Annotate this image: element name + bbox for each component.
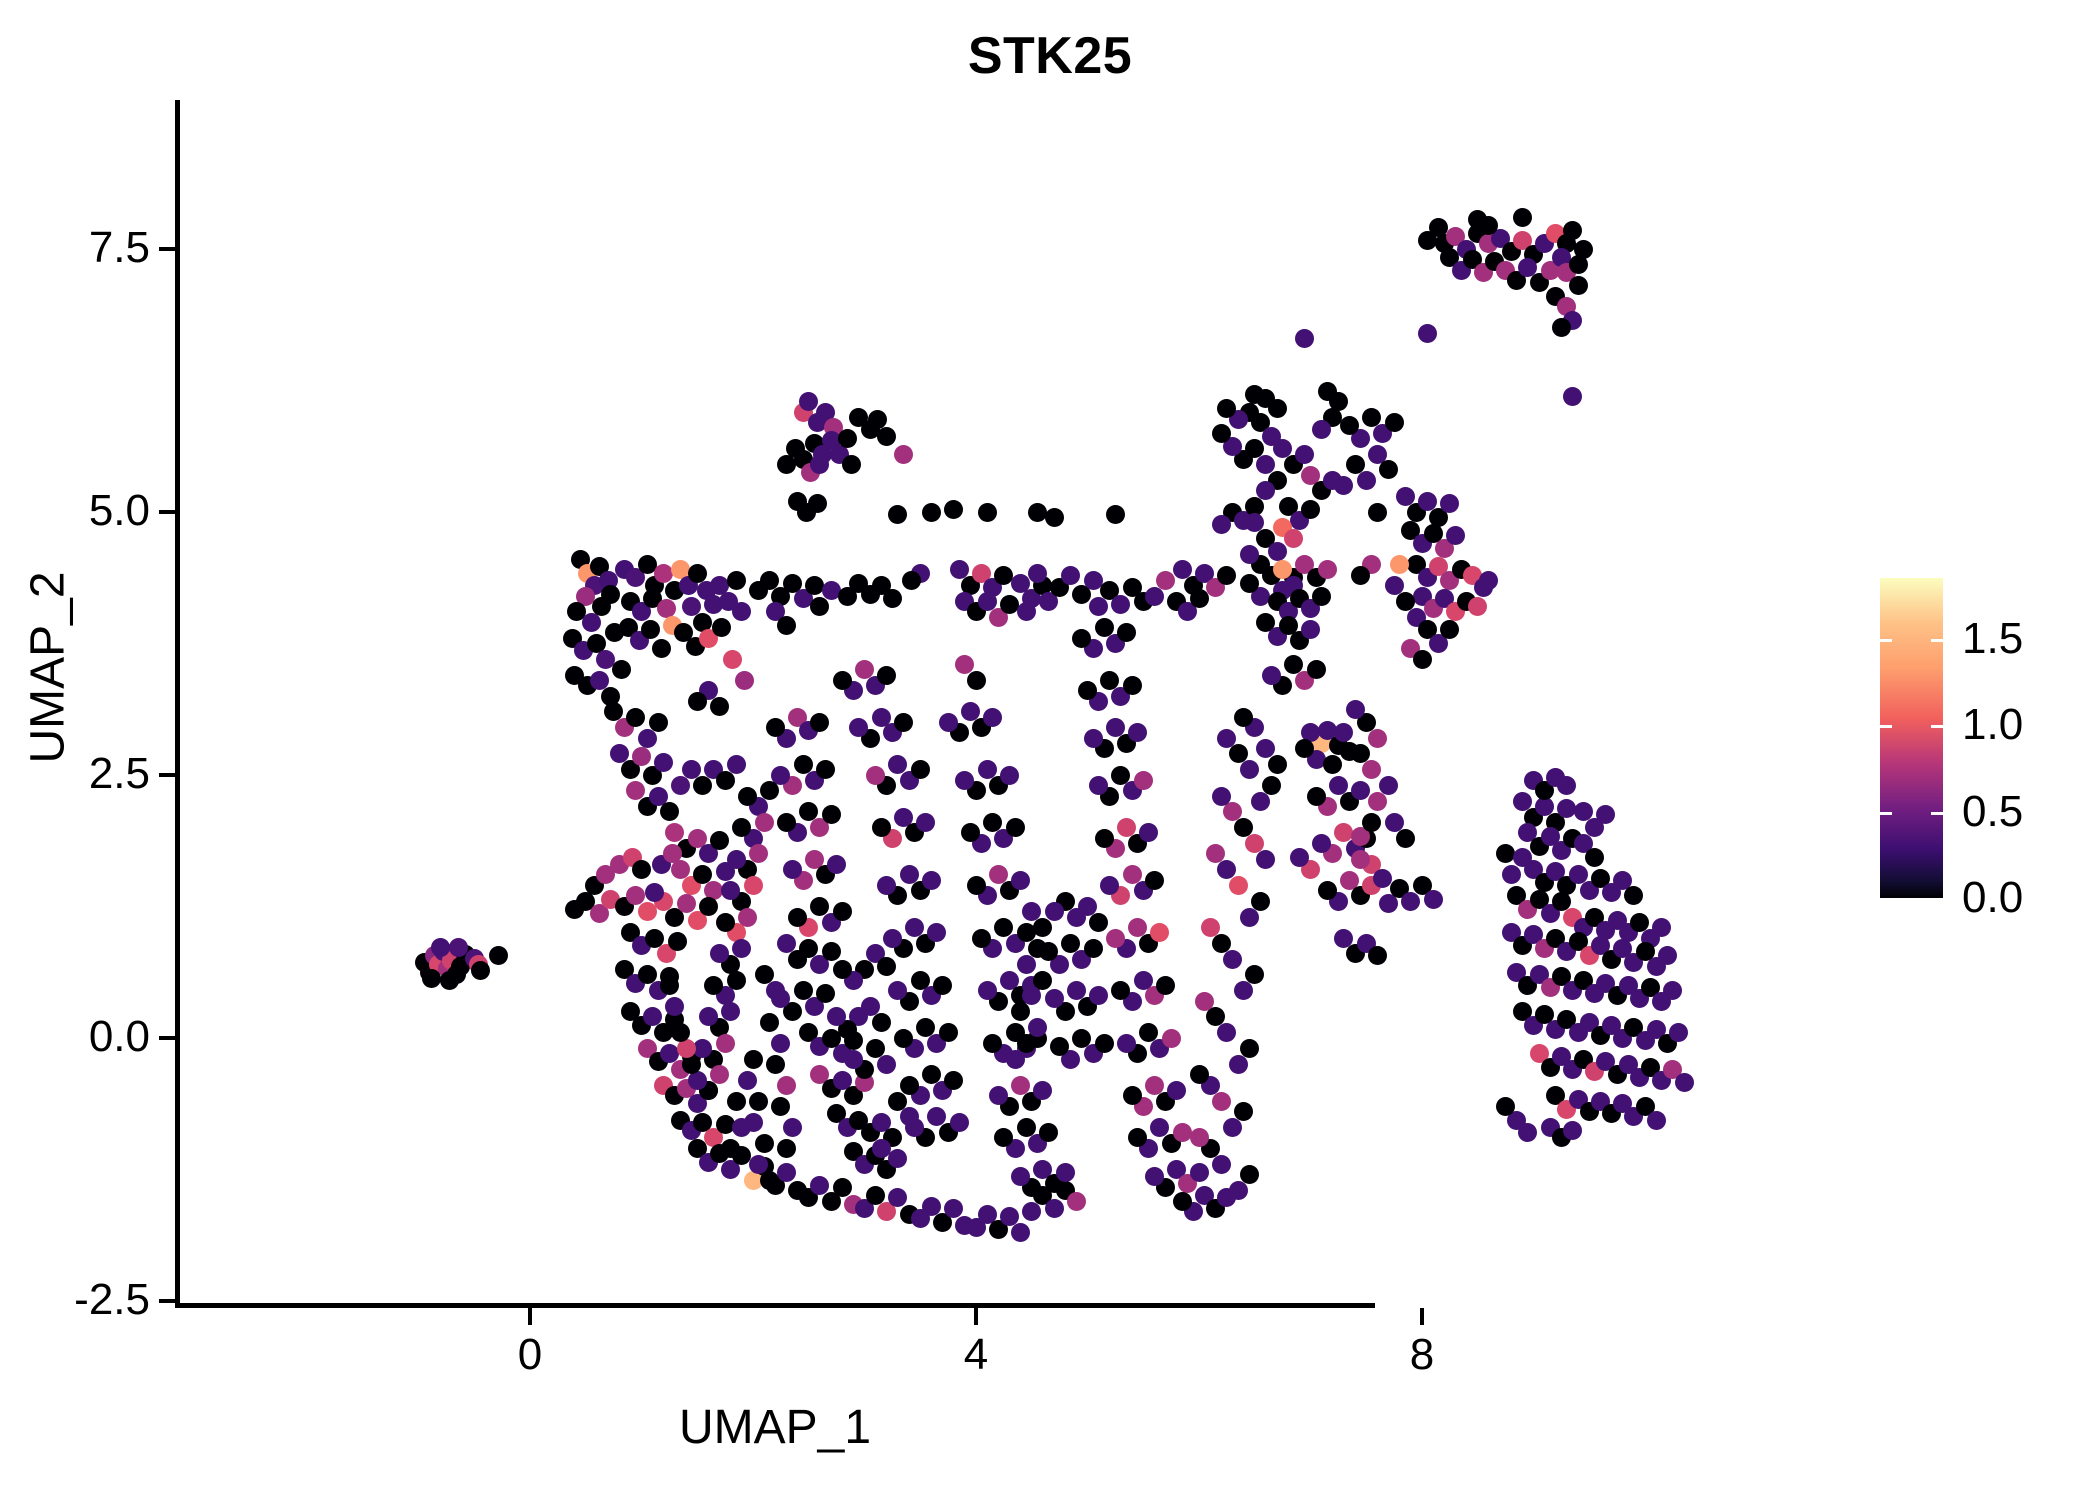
scatter-point [983,813,1002,832]
scatter-point [1524,925,1543,944]
scatter-point [1117,623,1136,642]
scatter-point [894,808,913,827]
scatter-point [1256,529,1275,548]
scatter-point [1658,1034,1677,1053]
scatter-point [1641,929,1660,948]
scatter-point [1535,1005,1554,1024]
scatter-point [933,976,952,995]
scatter-point [1100,787,1119,806]
scatter-point [1295,555,1314,574]
scatter-point [1072,629,1091,648]
y-tick-mark [159,1299,175,1303]
scatter-point [1563,1121,1582,1140]
scatter-point [902,571,921,590]
scatter-point [1190,589,1209,608]
scatter-point [866,1146,885,1165]
scatter-point [456,945,475,964]
scatter-point [688,564,707,583]
scatter-point [1056,1163,1075,1182]
scatter-point [1095,618,1114,637]
scatter-point [1485,252,1504,271]
y-tick-mark [159,247,175,251]
scatter-point [1067,1192,1086,1211]
scatter-point [1184,576,1203,595]
scatter-point [738,1071,757,1090]
scatter-point [1340,792,1359,811]
scatter-point [1206,578,1225,597]
scatter-point [1240,403,1259,422]
scatter-point [944,1071,963,1090]
scatter-point [967,602,986,621]
scatter-point [704,1128,723,1147]
scatter-point [704,595,723,614]
scatter-point [1463,566,1482,585]
scatter-point [732,602,751,621]
scatter-point [1290,848,1309,867]
scatter-point [721,1002,740,1021]
scatter-point [861,585,880,604]
scatter-point [939,713,958,732]
scatter-point [1039,1123,1058,1142]
scatter-point [1028,1018,1047,1037]
scatter-point [894,445,913,464]
scatter-point [1440,620,1459,639]
scatter-point [1334,723,1353,742]
scatter-point [1507,886,1526,905]
scatter-point [771,587,790,606]
scatter-point [972,718,991,737]
scatter-point [838,587,857,606]
scatter-point [1223,437,1242,456]
x-tick-label: 8 [1362,1330,1482,1380]
scatter-point [1563,1060,1582,1079]
scatter-point [967,876,986,895]
scatter-point [939,1023,958,1042]
scatter-point [978,760,997,779]
scatter-point [1223,950,1242,969]
scatter-point [927,1034,946,1053]
scatter-point [810,455,829,474]
scatter-point [1000,881,1019,900]
scatter-point [1056,1181,1075,1200]
scatter-point [1234,450,1253,469]
scatter-point [1580,881,1599,900]
scatter-point [621,923,640,942]
scatter-point [983,1034,1002,1053]
scatter-point [1284,455,1303,474]
scatter-point [888,1149,907,1168]
scatter-point [654,753,673,772]
colorbar-tick-mark [1880,639,1892,642]
scatter-point [422,969,441,988]
scatter-point [665,997,684,1016]
scatter-point [610,855,629,874]
colorbar-legend: 0.00.51.01.5 [1880,560,2080,920]
y-tick-mark [159,773,175,777]
scatter-point [788,950,807,969]
scatter-point [838,1118,857,1137]
scatter-point [716,1034,735,1053]
scatter-point [1256,739,1275,758]
scatter-point [1206,1199,1225,1218]
scatter-point [1557,1100,1576,1119]
scatter-point [1156,1178,1175,1197]
scatter-point [1011,1076,1030,1095]
scatter-point [1624,1107,1643,1126]
scatter-point [1362,408,1381,427]
scatter-point [585,576,604,595]
scatter-point [1134,881,1153,900]
scatter-point [894,1029,913,1048]
scatter-point [777,813,796,832]
scatter-point [686,637,705,656]
scatter-point [1173,1192,1192,1211]
scatter-point [978,981,997,1000]
scatter-point [766,981,785,1000]
scatter-point [1641,978,1660,997]
scatter-point [1284,529,1303,548]
scatter-point [1245,497,1264,516]
scatter-point [1340,742,1359,761]
scatter-point [794,755,813,774]
scatter-point [1608,911,1627,930]
scatter-point [638,729,657,748]
scatter-point [827,1007,846,1026]
scatter-point [1362,555,1381,574]
scatter-point [810,1065,829,1084]
scatter-point [679,576,698,595]
scatter-point [844,681,863,700]
scatter-point [1552,841,1571,860]
scatter-point [1017,1039,1036,1058]
scatter-point [489,946,508,965]
page-title: STK25 [0,26,2100,86]
scatter-point [1229,744,1248,763]
scatter-point [844,1195,863,1214]
scatter-point [1457,240,1476,259]
scatter-point [1173,1123,1192,1142]
scatter-point [822,805,841,824]
scatter-point [1585,818,1604,837]
scatter-point [671,1060,690,1079]
scatter-point [721,955,740,974]
scatter-point [760,781,779,800]
scatter-point [900,865,919,884]
scatter-point [716,986,735,1005]
scatter-point [794,450,813,469]
scatter-point [585,876,604,895]
scatter-point [808,413,827,432]
scatter-point [1596,921,1615,940]
scatter-point [1106,505,1125,524]
scatter-point [688,911,707,930]
scatter-point [632,936,651,955]
scatter-point [699,629,718,648]
colorbar-tick-mark [1880,812,1892,815]
scatter-point [1569,932,1588,951]
scatter-point [1290,589,1309,608]
scatter-point [1396,487,1415,506]
scatter-point [626,568,645,587]
scatter-point [1379,460,1398,479]
scatter-point [1608,986,1627,1005]
scatter-point [1385,413,1404,432]
scatter-point [1563,311,1582,330]
scatter-point [744,829,763,848]
colorbar-tick-mark [1931,812,1943,815]
scatter-point [1513,1002,1532,1021]
scatter-point [704,976,723,995]
scatter-point [1184,1202,1203,1221]
scatter-point [1084,939,1103,958]
scatter-point [1401,892,1420,911]
scatter-point [927,923,946,942]
scatter-point [777,1076,796,1095]
scatter-point [1084,1044,1103,1063]
scatter-point [732,1146,751,1165]
scatter-point [888,755,907,774]
scatter-point [1323,844,1342,863]
scatter-point [665,581,684,600]
scatter-point [671,560,690,579]
scatter-point [883,1128,902,1147]
scatter-point [1256,613,1275,632]
scatter-point [877,1160,896,1179]
scatter-point [1563,908,1582,927]
scatter-point [866,676,885,695]
scatter-point [1541,978,1560,997]
scatter-point [1546,224,1565,243]
scatter-point [1541,1118,1560,1137]
scatter-point [994,829,1013,848]
x-tick-label: 0 [470,1330,590,1380]
scatter-point [1284,568,1303,587]
scatter-point [615,718,634,737]
colorbar-tick-label: 1.5 [1962,614,2023,664]
scatter-point [816,984,835,1003]
scatter-point [1312,734,1331,753]
x-axis-line [175,1303,1375,1308]
scatter-point [1240,760,1259,779]
scatter-point [732,892,751,911]
scatter-point [1128,918,1147,937]
scatter-point [1217,399,1236,418]
scatter-point [688,829,707,848]
scatter-point [710,1144,729,1163]
scatter-point [1518,900,1537,919]
scatter-point [1201,1076,1220,1095]
colorbar-tick-mark [1931,725,1943,728]
scatter-point [1312,587,1331,606]
scatter-point [1000,1207,1019,1226]
scatter-point [1373,869,1392,888]
scatter-point [1385,576,1404,595]
scatter-point [830,445,849,464]
scatter-point [1373,424,1392,443]
scatter-point [601,687,620,706]
scatter-point [1212,515,1231,534]
scatter-point [799,1188,818,1207]
scatter-point [1468,224,1487,243]
scatter-point [1022,986,1041,1005]
scatter-point [1084,639,1103,658]
scatter-point [911,1209,930,1228]
scatter-point [1011,1002,1030,1021]
scatter-point [888,981,907,1000]
scatter-point [1368,792,1387,811]
scatter-point [1273,676,1292,695]
scatter-point [638,965,657,984]
scatter-point [677,1039,696,1058]
scatter-point [1351,827,1370,846]
scatter-point [1061,1050,1080,1069]
scatter-point [1507,963,1526,982]
scatter-point [1574,971,1593,990]
scatter-point [693,613,712,632]
scatter-point [434,942,453,961]
scatter-point [1217,566,1236,585]
scatter-point [1295,739,1314,758]
scatter-point [1535,234,1554,253]
scatter-point [905,1118,924,1137]
scatter-point [1429,508,1448,527]
scatter-point [833,960,852,979]
scatter-point [1245,385,1264,404]
scatter-point [1167,1081,1186,1100]
scatter-point [1602,1016,1621,1035]
scatter-point [1061,566,1080,585]
scatter-point [805,576,824,595]
scatter-point [721,881,740,900]
scatter-point [693,1039,712,1058]
scatter-point [916,813,935,832]
scatter-point [1608,1065,1627,1084]
scatter-point [816,760,835,779]
scatter-point [677,1079,696,1098]
scatter-point [626,781,645,800]
scatter-point [1033,1160,1052,1179]
scatter-point [1067,981,1086,1000]
scatter-point [1256,481,1275,500]
scatter-point [1602,1104,1621,1123]
scatter-point [861,729,880,748]
scatter-point [1256,455,1275,474]
scatter-point [1585,848,1604,867]
scatter-point [1630,989,1649,1008]
scatter-point [1569,276,1588,295]
scatter-point [1596,974,1615,993]
scatter-point [1440,494,1459,513]
scatter-point [1072,1029,1091,1048]
scatter-point [933,1213,952,1232]
scatter-point [1368,946,1387,965]
scatter-point [727,971,746,990]
scatter-point [1145,587,1164,606]
scatter-point [663,616,682,635]
scatter-point [727,571,746,590]
scatter-point [1585,908,1604,927]
scatter-point [1318,560,1337,579]
scatter-point [619,618,638,637]
scatter-point [955,1216,974,1235]
scatter-point [766,718,785,737]
scatter-point [710,576,729,595]
scatter-point [643,589,662,608]
scatter-point [665,908,684,927]
scatter-point [738,860,757,879]
scatter-point [1457,592,1476,611]
scatter-point [1563,387,1582,406]
scatter-point [671,1023,690,1042]
scatter-point [1479,571,1498,590]
scatter-point [1078,681,1097,700]
scatter-point [816,403,835,422]
scatter-point [989,608,1008,627]
scatter-point [905,1039,924,1058]
scatter-point [1050,578,1069,597]
scatter-point [1022,976,1041,995]
scatter-point [1100,876,1119,895]
scatter-point [1619,976,1638,995]
scatter-point [967,1218,986,1237]
scatter-point [1357,829,1376,848]
scatter-point [744,1050,763,1069]
scatter-point [1111,886,1130,905]
scatter-point [649,981,668,1000]
scatter-point [1033,918,1052,937]
scatter-point [1033,576,1052,595]
scatter-point [1596,1052,1615,1071]
scatter-point [1613,1094,1632,1113]
scatter-point [822,1079,841,1098]
scatter-point [1518,1123,1537,1142]
scatter-point [605,623,624,642]
scatter-point [587,634,606,653]
scatter-point [1011,986,1030,1005]
scatter-point [688,1094,707,1113]
scatter-point [900,1205,919,1224]
scatter-point [1418,231,1437,250]
scatter-point [704,881,723,900]
scatter-point [866,1039,885,1058]
scatter-point [1569,1023,1588,1042]
scatter-point [1530,890,1549,909]
scatter-point [822,1029,841,1048]
scatter-point [749,581,768,600]
scatter-point [1106,634,1125,653]
scatter-point [900,1076,919,1095]
scatter-point [1574,802,1593,821]
scatter-point [623,848,642,867]
scatter-point [1496,261,1515,280]
scatter-point [1491,229,1510,248]
scatter-points-layer [0,0,2100,1500]
scatter-point [1563,829,1582,848]
scatter-point [955,771,974,790]
scatter-point [574,641,593,660]
scatter-point [1229,1055,1248,1074]
scatter-point [749,797,768,816]
scatter-point [849,408,868,427]
scatter-point [1541,261,1560,280]
scatter-point [1390,879,1409,898]
x-tick-mark [528,1308,532,1325]
scatter-point [649,1052,668,1071]
scatter-point [1268,592,1287,611]
scatter-point [916,1018,935,1037]
scatter-point [1139,1023,1158,1042]
scatter-point [1574,834,1593,853]
